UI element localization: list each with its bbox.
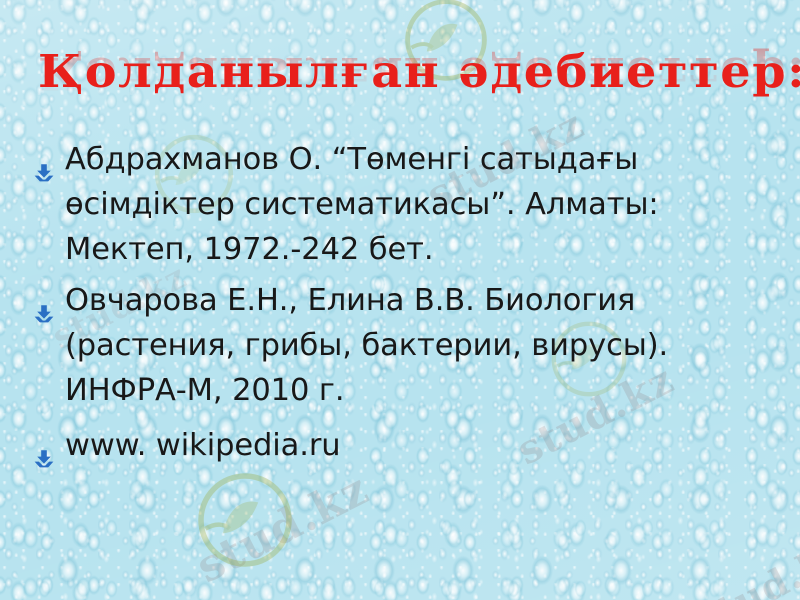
download-arrow-icon bbox=[33, 437, 55, 457]
download-arrow-icon bbox=[33, 151, 55, 171]
list-item: Абдрахманов О. “Төменгі сатыдағы өсімдік… bbox=[33, 137, 773, 272]
slide-title-block: Қолданылған әдебиеттер: Қолданылған әдеб… bbox=[0, 44, 800, 144]
presentation-slide: stud.kz stud.kz stud.kz stud.kz stud.kz bbox=[0, 0, 800, 600]
list-item-label: Овчарова Е.Н., Елина В.В. Биология (раст… bbox=[65, 278, 773, 413]
download-arrow-icon bbox=[33, 292, 55, 312]
page-title: Қолданылған әдебиеттер: bbox=[38, 44, 800, 100]
list-item-label: Абдрахманов О. “Төменгі сатыдағы өсімдік… bbox=[65, 137, 773, 272]
list-item: www. wikipedia.ru bbox=[33, 423, 773, 468]
list-item-label: www. wikipedia.ru bbox=[65, 423, 773, 468]
list-item: Овчарова Е.Н., Елина В.В. Биология (раст… bbox=[33, 278, 773, 413]
references-list: Абдрахманов О. “Төменгі сатыдағы өсімдік… bbox=[33, 137, 773, 474]
